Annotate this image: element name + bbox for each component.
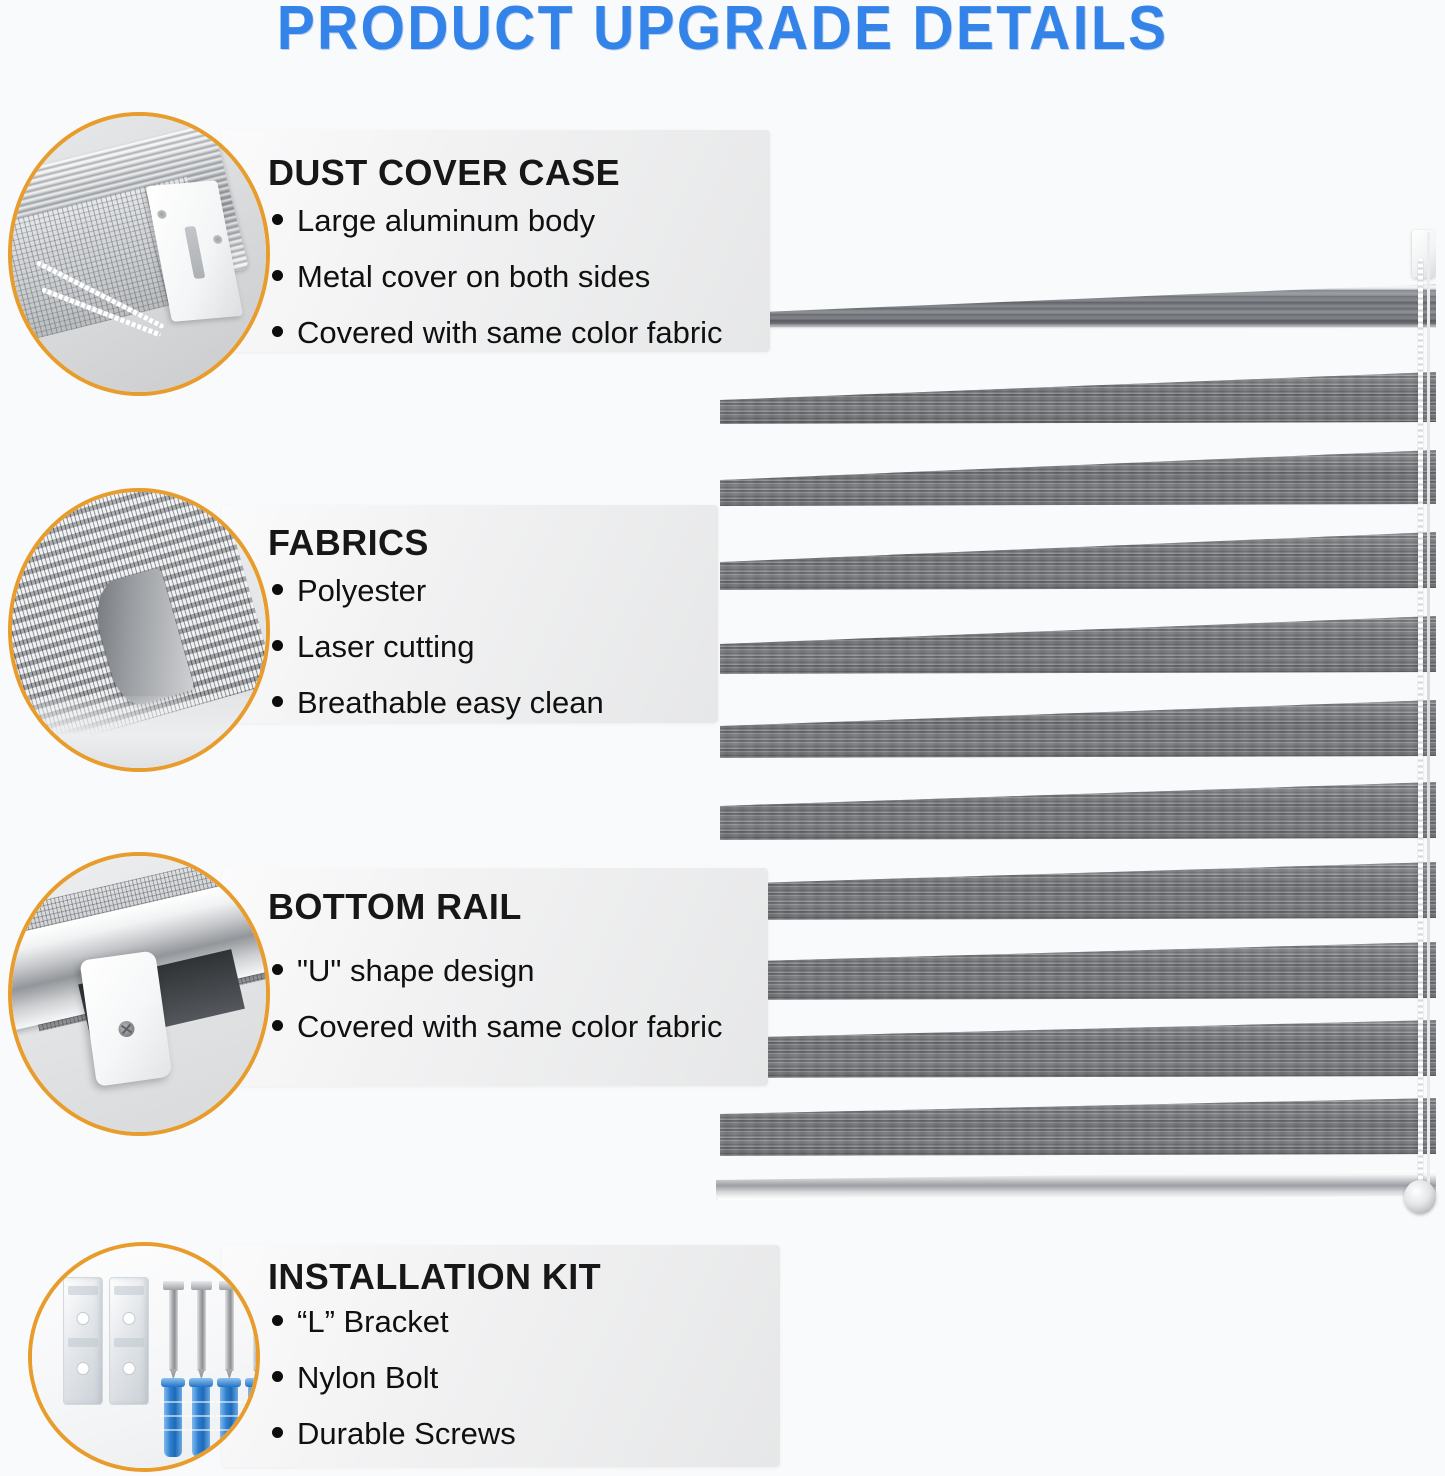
blind-head-rail <box>714 284 1436 330</box>
bullet-dot-icon <box>272 1371 283 1382</box>
bracket-hole <box>122 1312 135 1325</box>
anchor-rib <box>216 1415 242 1417</box>
blind-right-edge <box>1427 232 1430 1212</box>
hardware-group <box>59 1273 234 1362</box>
bracket-notch <box>114 1286 144 1295</box>
bracket-notch <box>114 1338 144 1347</box>
anchor-rib <box>188 1401 214 1403</box>
installation-kit-photo <box>28 1242 260 1472</box>
blind-slat <box>720 1020 1436 1078</box>
fabrics-photo-image <box>12 492 266 768</box>
bullet-dot-icon <box>272 964 283 975</box>
bullet-list-dust-cover-case: Large aluminum body Metal cover on both … <box>272 205 723 348</box>
bracket-notch <box>68 1286 98 1295</box>
anchor-rib <box>160 1429 186 1431</box>
bullet-dot-icon <box>272 326 283 337</box>
bottom-rail-photo <box>8 852 270 1136</box>
section-title-fabrics: FABRICS <box>268 522 429 564</box>
bullet-text: Large aluminum body <box>297 205 595 236</box>
l-bracket-shape <box>109 1277 149 1405</box>
bullet-text: Covered with same color fabric <box>297 317 723 348</box>
bullet-dot-icon <box>272 584 283 595</box>
blind-slat <box>720 700 1436 758</box>
list-item: Nylon Bolt <box>272 1362 516 1393</box>
anchor-rib <box>216 1401 242 1403</box>
product-blind-image <box>706 222 1436 1242</box>
bullet-list-installation-kit: “L” Bracket Nylon Bolt Durable Screws <box>272 1306 516 1449</box>
bullet-dot-icon <box>272 640 283 651</box>
screw-shape <box>169 1287 178 1371</box>
bullet-text: “L” Bracket <box>297 1306 449 1337</box>
bullet-list-fabrics: Polyester Laser cutting Breathable easy … <box>272 575 604 718</box>
bullet-dot-icon <box>272 1427 283 1438</box>
nylon-bolt-shape <box>220 1385 238 1457</box>
surface-shape <box>12 696 266 768</box>
list-item: Covered with same color fabric <box>272 317 723 348</box>
bullet-text: Covered with same color fabric <box>297 1011 723 1042</box>
nylon-bolt-shape <box>192 1385 210 1457</box>
blind-slat <box>720 372 1436 424</box>
section-title-dust-cover-case: DUST COVER CASE <box>268 152 620 194</box>
screw-icon <box>118 1020 136 1038</box>
anchor-rib <box>216 1429 242 1431</box>
anchor-rib <box>160 1415 186 1417</box>
list-item: Covered with same color fabric <box>272 1011 723 1042</box>
anchor-rib <box>160 1401 186 1403</box>
bracket-hole <box>76 1312 89 1325</box>
screw-hole-icon <box>157 210 168 220</box>
section-title-bottom-rail: BOTTOM RAIL <box>268 886 522 928</box>
list-item: Laser cutting <box>272 631 604 662</box>
installation-kit-photo-image <box>32 1246 256 1468</box>
blind-slat <box>720 450 1436 506</box>
bullet-text: Laser cutting <box>297 631 475 662</box>
bullet-text: Nylon Bolt <box>297 1362 438 1393</box>
bullet-dot-icon <box>272 696 283 707</box>
bullet-text: Breathable easy clean <box>297 687 604 718</box>
nylon-bolt-shape <box>164 1385 182 1457</box>
list-item: Metal cover on both sides <box>272 261 723 292</box>
chain-tensioner <box>1404 1180 1436 1214</box>
bottom-rail-photo-image <box>12 856 266 1132</box>
bullet-dot-icon <box>272 270 283 281</box>
dust-cover-case-photo-image <box>12 116 266 392</box>
bead-chain <box>1418 258 1423 1210</box>
bullet-text: Metal cover on both sides <box>297 261 650 292</box>
bracket-hole <box>76 1362 89 1375</box>
screw-shape <box>197 1287 206 1371</box>
list-item: Breathable easy clean <box>272 687 604 718</box>
blind-slat <box>720 862 1436 920</box>
blind-slat <box>720 1098 1436 1156</box>
bullet-dot-icon <box>272 214 283 225</box>
bracket-notch <box>68 1338 98 1347</box>
blind-head-rail-end-cap <box>1412 230 1436 278</box>
bullet-dot-icon <box>272 1020 283 1031</box>
blind-slat <box>720 942 1436 1000</box>
list-item: Polyester <box>272 575 604 606</box>
bullet-text: "U" shape design <box>297 955 534 986</box>
page-title: PRODUCT UPGRADE DETAILS <box>58 0 1387 61</box>
blind-bottom-rail <box>716 1170 1436 1200</box>
infographic-canvas: PRODUCT UPGRADE DETAILS DUST COVER CASE … <box>0 0 1445 1476</box>
anchor-rib <box>188 1429 214 1431</box>
blind-slat <box>720 616 1436 674</box>
key-slot-shape <box>184 226 205 278</box>
section-title-installation-kit: INSTALLATION KIT <box>268 1256 601 1298</box>
list-item: "U" shape design <box>272 955 723 986</box>
bullet-text: Polyester <box>297 575 426 606</box>
screw-shape <box>225 1287 234 1371</box>
l-bracket-shape <box>63 1277 103 1405</box>
anchor-rib <box>188 1415 214 1417</box>
bullet-list-bottom-rail: "U" shape design Covered with same color… <box>272 955 723 1042</box>
dust-cover-case-photo <box>8 112 270 396</box>
blind-slat <box>720 782 1436 840</box>
bullet-dot-icon <box>272 1315 283 1326</box>
bracket-hole <box>122 1362 135 1375</box>
screw-hole-icon <box>213 235 224 245</box>
list-item: “L” Bracket <box>272 1306 516 1337</box>
blind-slat <box>720 532 1436 590</box>
fabrics-photo <box>8 488 270 772</box>
bullet-text: Durable Screws <box>297 1418 516 1449</box>
list-item: Durable Screws <box>272 1418 516 1449</box>
list-item: Large aluminum body <box>272 205 723 236</box>
